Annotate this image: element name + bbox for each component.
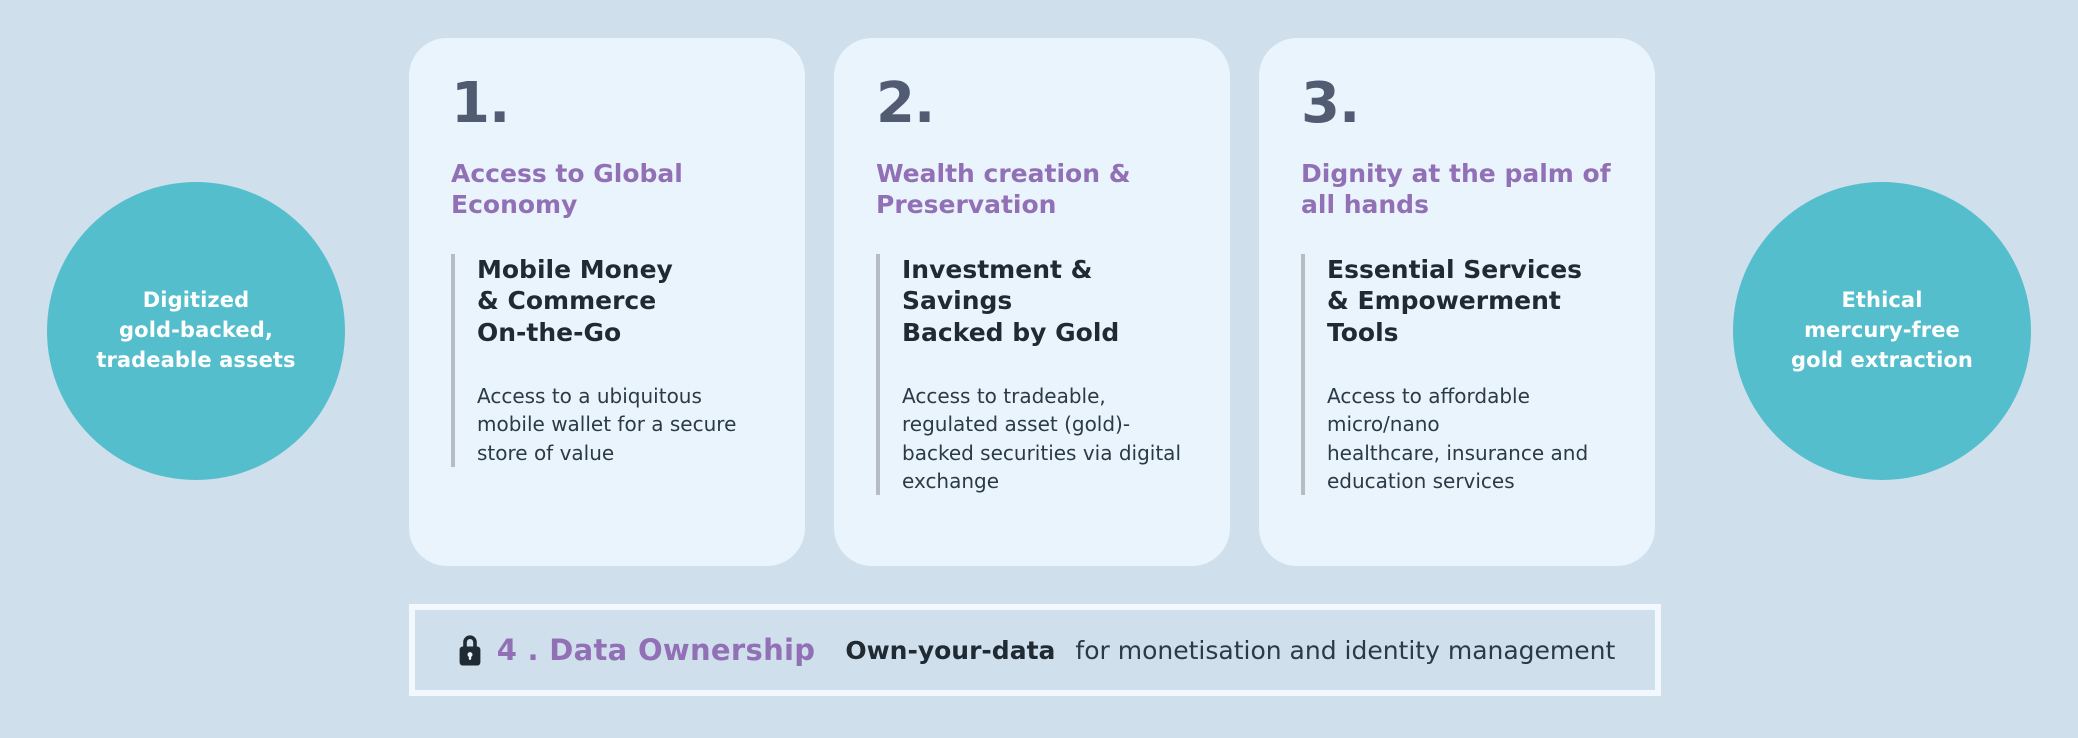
- card-body: Essential Services & Empowerment Tools A…: [1301, 254, 1613, 495]
- badge-label: Digitized gold-backed, tradeable assets: [96, 286, 295, 375]
- card-heading: Essential Services & Empowerment Tools: [1327, 254, 1613, 348]
- card-kicker: Wealth creation & Preservation: [876, 158, 1188, 220]
- card-kicker: Dignity at the palm of all hands: [1301, 158, 1613, 220]
- badge-ethical-mercury-free: Ethical mercury-free gold extraction: [1733, 182, 2031, 480]
- banner-data-ownership: 4 . Data Ownership Own-your-data for mon…: [409, 604, 1661, 696]
- card-heading: Mobile Money & Commerce On-the-Go: [477, 254, 763, 348]
- card-body: Mobile Money & Commerce On-the-Go Access…: [451, 254, 763, 467]
- card-number: 2.: [876, 76, 1188, 132]
- card-access-to-global-economy: 1. Access to Global Economy Mobile Money…: [409, 38, 805, 566]
- banner-rest-text: for monetisation and identity management: [1075, 636, 1615, 665]
- card-wealth-creation-preservation: 2. Wealth creation & Preservation Invest…: [834, 38, 1230, 566]
- card-kicker: Access to Global Economy: [451, 158, 763, 220]
- badge-label: Ethical mercury-free gold extraction: [1791, 286, 1973, 375]
- card-body: Investment & Savings Backed by Gold Acce…: [876, 254, 1188, 495]
- badge-digitized-gold-backed: Digitized gold-backed, tradeable assets: [47, 182, 345, 480]
- banner-strong-text: Own-your-data: [845, 636, 1055, 665]
- card-dignity-at-palm-of-all-hands: 3. Dignity at the palm of all hands Esse…: [1259, 38, 1655, 566]
- banner-content: 4 . Data Ownership Own-your-data for mon…: [455, 633, 1616, 667]
- card-description: Access to affordable micro/nano healthca…: [1327, 382, 1613, 496]
- card-description: Access to tradeable, regulated asset (go…: [902, 382, 1188, 496]
- banner-number-label: 4 . Data Ownership: [497, 633, 816, 667]
- cards-row: 1. Access to Global Economy Mobile Money…: [409, 38, 1655, 566]
- card-description: Access to a ubiquitous mobile wallet for…: [477, 382, 763, 467]
- lock-icon: [455, 633, 485, 667]
- card-number: 1.: [451, 76, 763, 132]
- card-number: 3.: [1301, 76, 1613, 132]
- card-heading: Investment & Savings Backed by Gold: [902, 254, 1188, 348]
- value-proposition-infographic: { "theme": { "background": "#cfdfec", "c…: [0, 0, 2078, 738]
